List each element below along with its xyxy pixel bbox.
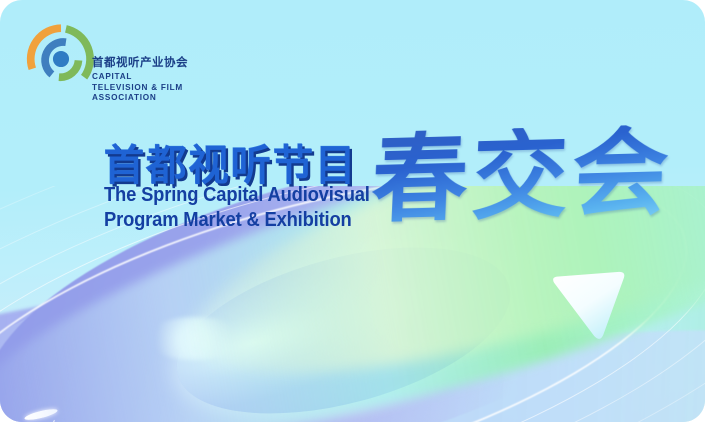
logo-name-cn: 首都视听产业协会 [92,56,188,70]
subtitle-line-2: Program Market & Exhibition [104,208,370,233]
calligraphy-title: 春交会 [370,124,675,228]
logo-name-en: CAPITAL TELEVISION & FILM ASSOCIATION [92,72,188,104]
association-logo: 首都视听产业协会 CAPITAL TELEVISION & FILM ASSOC… [26,24,201,99]
logo-name-en-line1: CAPITAL [92,72,188,83]
page-subtitle-en: The Spring Capital Audiovisual Program M… [104,183,370,233]
logo-text-block: 首都视听产业协会 CAPITAL TELEVISION & FILM ASSOC… [92,56,188,104]
subtitle-line-1: The Spring Capital Audiovisual [104,183,370,208]
concentric-arcs-logo-icon [26,24,96,94]
logo-name-en-line3: ASSOCIATION [92,93,188,104]
poster-card: 首都视听产业协会 CAPITAL TELEVISION & FILM ASSOC… [0,0,705,422]
logo-name-en-line2: TELEVISION & FILM [92,83,188,94]
